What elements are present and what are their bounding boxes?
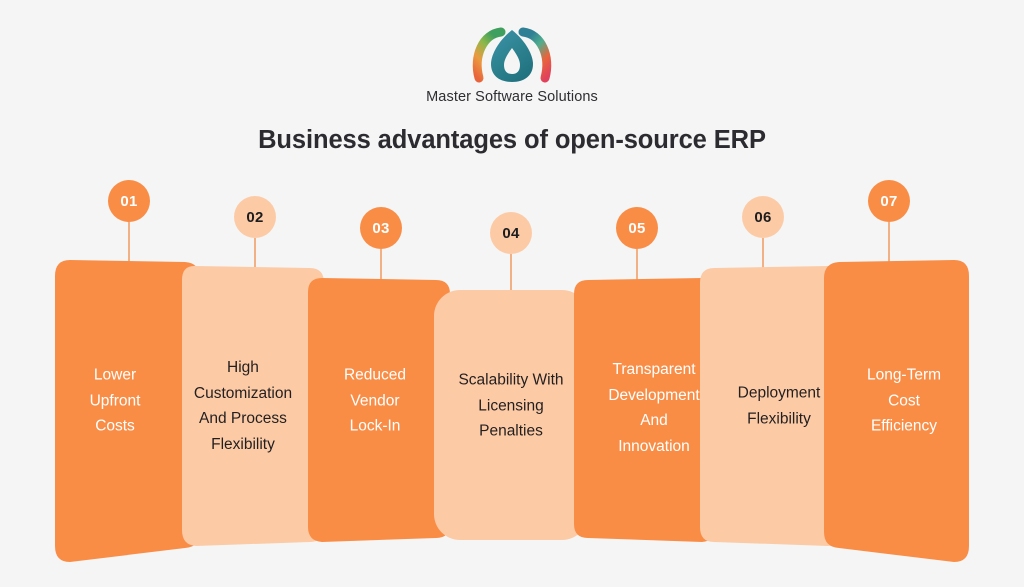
badge-03[interactable]: 03 xyxy=(360,207,402,249)
badge-01-label: 01 xyxy=(120,193,137,210)
fan-panel-7[interactable] xyxy=(824,260,969,562)
fan-infographic: 01 02 03 04 05 06 07 Lower Upfront Costs… xyxy=(0,170,1024,580)
fan-panel-4[interactable] xyxy=(434,290,588,540)
fan-panel-6[interactable] xyxy=(700,266,842,546)
badge-04[interactable]: 04 xyxy=(490,212,532,254)
badge-06[interactable]: 06 xyxy=(742,196,784,238)
badge-05[interactable]: 05 xyxy=(616,207,658,249)
fan-panel-5[interactable] xyxy=(574,278,716,542)
badge-07[interactable]: 07 xyxy=(868,180,910,222)
badge-01[interactable]: 01 xyxy=(108,180,150,222)
badge-07-label: 07 xyxy=(880,193,897,210)
brand-header: Master Software Solutions xyxy=(0,26,1024,105)
master-software-solutions-logo-icon xyxy=(469,26,555,84)
page-title: Business advantages of open-source ERP xyxy=(0,126,1024,155)
fan-panel-2[interactable] xyxy=(182,266,324,546)
badge-04-label: 04 xyxy=(502,225,519,242)
brand-name: Master Software Solutions xyxy=(0,89,1024,105)
fan-panel-3[interactable] xyxy=(308,278,450,542)
badge-02-label: 02 xyxy=(246,209,263,226)
fan-panel-1[interactable] xyxy=(55,260,200,562)
badge-03-label: 03 xyxy=(372,220,389,237)
badge-02[interactable]: 02 xyxy=(234,196,276,238)
badge-06-label: 06 xyxy=(754,209,771,226)
badge-05-label: 05 xyxy=(628,220,645,237)
